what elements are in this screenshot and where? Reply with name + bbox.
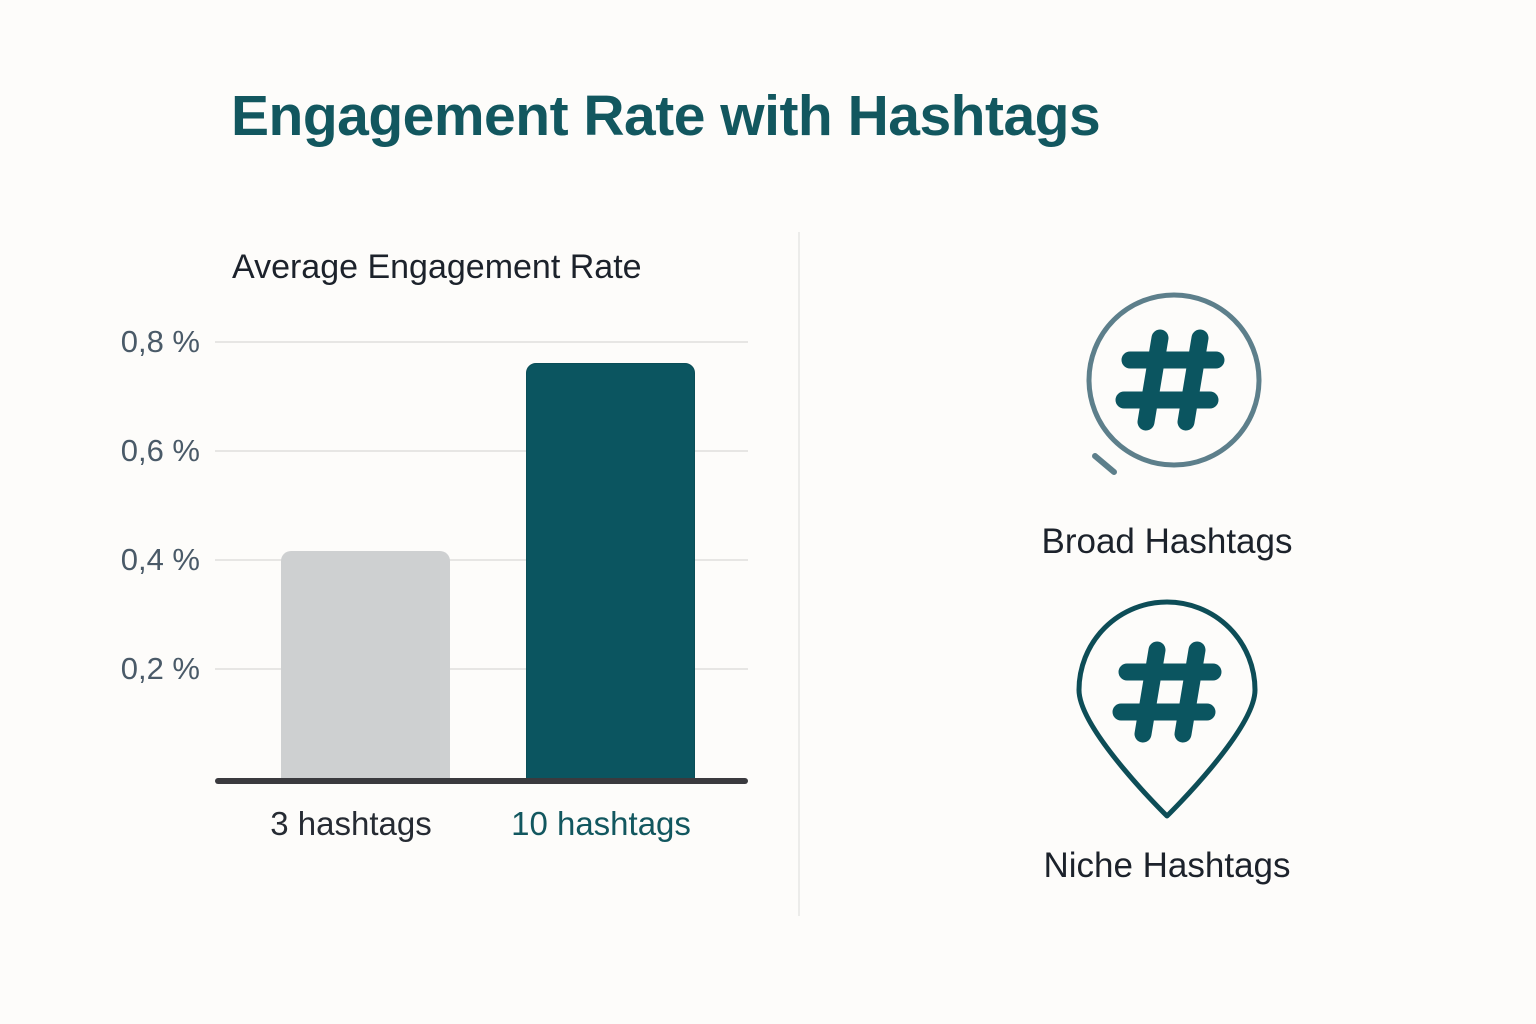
chart-panel: Average Engagement Rate 0,8 % 0,6 % 0,4 …	[0, 0, 798, 1024]
map-pin-hashtag-icon	[1057, 598, 1277, 828]
gridline-0-8	[215, 341, 748, 343]
legend-label-niche-hashtags: Niche Hashtags	[798, 846, 1536, 886]
y-tick-0-8: 0,8 %	[0, 324, 200, 360]
y-axis-tick-labels: 0,8 % 0,6 % 0,4 % 0,2 %	[0, 0, 200, 1024]
x-tick-label-10-hashtags: 10 hashtags	[456, 805, 746, 843]
legend-label-broad-hashtags: Broad Hashtags	[798, 522, 1536, 562]
bar-3-hashtags[interactable]	[281, 551, 450, 783]
magnifier-hashtag-icon	[1057, 280, 1277, 500]
bar-10-hashtags[interactable]	[526, 363, 695, 783]
legend-item-broad-hashtags[interactable]: Broad Hashtags	[798, 280, 1536, 562]
x-tick-label-3-hashtags: 3 hashtags	[206, 805, 496, 843]
y-tick-0-6: 0,6 %	[0, 433, 200, 469]
y-tick-0-2: 0,2 %	[0, 651, 200, 687]
chart-subtitle: Average Engagement Rate	[232, 248, 642, 287]
x-axis-line	[215, 778, 748, 784]
y-tick-0-4: 0,4 %	[0, 542, 200, 578]
plot-area	[215, 341, 748, 783]
legend-panel: Broad Hashtags Niche Hashtags	[798, 0, 1536, 1024]
legend-item-niche-hashtags[interactable]: Niche Hashtags	[798, 598, 1536, 886]
